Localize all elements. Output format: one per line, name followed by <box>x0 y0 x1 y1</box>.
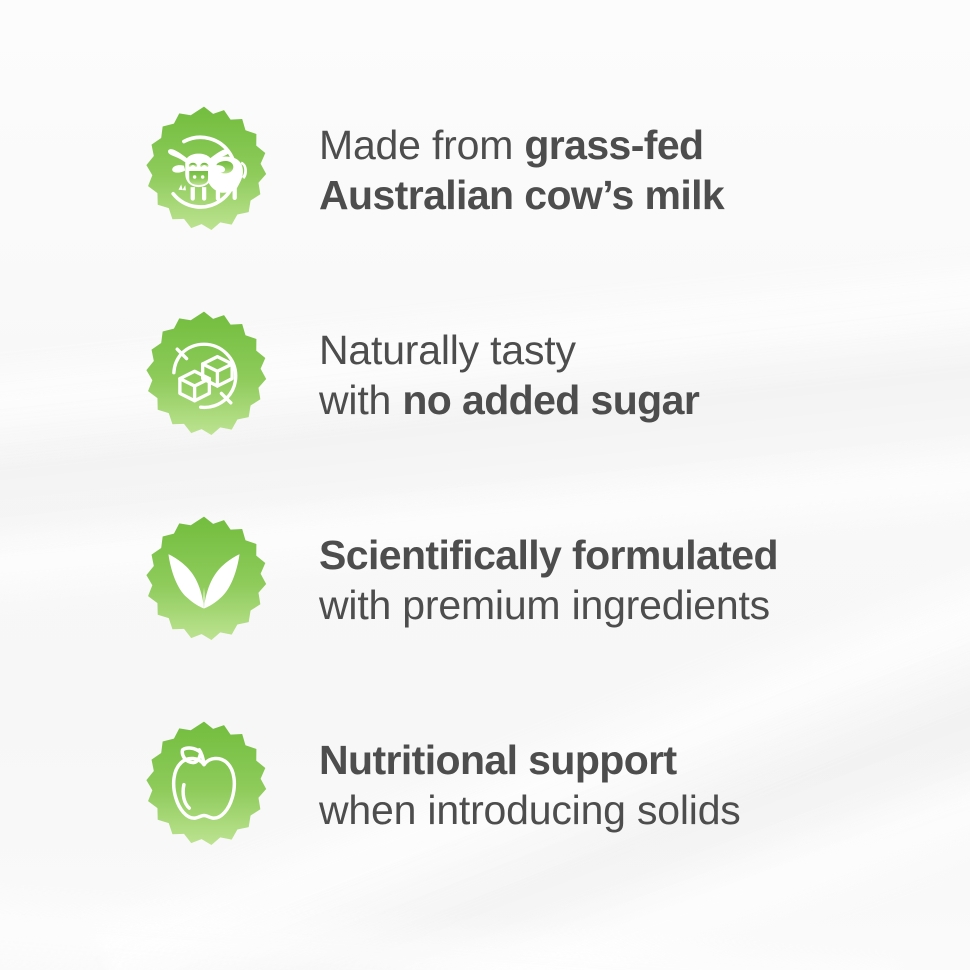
feature-item-nutritional-support: Nutritional support when introducing sol… <box>137 719 741 853</box>
feature-line-1-bold: Nutritional support <box>319 737 677 783</box>
apple-badge <box>137 719 271 853</box>
feature-line-2-regular: when introducing solids <box>319 787 741 833</box>
feature-line-2-regular: with premium ingredients <box>319 582 770 628</box>
feature-item-grass-fed: Made from grass-fed Australian cow’s mil… <box>137 104 724 238</box>
feature-line-1: Made from grass-fed <box>319 121 724 171</box>
feature-line-1: Naturally tasty <box>319 326 699 376</box>
feature-line-1-bold: grass-fed <box>524 122 703 168</box>
feature-text: Nutritional support when introducing sol… <box>319 736 741 835</box>
feature-item-no-added-sugar: Naturally tasty with no added sugar <box>137 309 699 443</box>
feature-item-scientifically-formulated: Scientifically formulated with premium i… <box>137 514 778 648</box>
leaf-sprout-badge <box>137 514 271 648</box>
background-streak <box>0 863 902 970</box>
feature-line-1: Scientifically formulated <box>319 531 778 581</box>
feature-line-1-bold: Scientifically formulated <box>319 532 778 578</box>
background-streak <box>83 383 970 970</box>
feature-line-2: Australian cow’s milk <box>319 171 724 221</box>
feature-line-2-bold: no added sugar <box>402 377 699 423</box>
feature-text: Scientifically formulated with premium i… <box>319 531 778 630</box>
feature-line-1: Nutritional support <box>319 736 741 786</box>
feature-line-2-regular: with <box>319 377 402 423</box>
badge-scallop-shape <box>146 517 266 640</box>
badge-scallop-shape <box>146 312 266 435</box>
feature-highlights-graphic: Made from grass-fed Australian cow’s mil… <box>0 0 970 970</box>
feature-line-2: with premium ingredients <box>319 581 778 631</box>
feature-line-1-regular: Made from <box>319 122 524 168</box>
feature-line-2-bold: Australian cow’s milk <box>319 172 724 218</box>
feature-line-2: when introducing solids <box>319 786 741 836</box>
feature-text: Made from grass-fed Australian cow’s mil… <box>319 121 724 220</box>
feature-line-1-regular: Naturally tasty <box>319 327 576 373</box>
cow-badge <box>137 104 271 238</box>
badge-scallop-shape <box>146 722 266 845</box>
feature-text: Naturally tasty with no added sugar <box>319 326 699 425</box>
feature-line-2: with no added sugar <box>319 376 699 426</box>
no-sugar-badge <box>137 309 271 443</box>
